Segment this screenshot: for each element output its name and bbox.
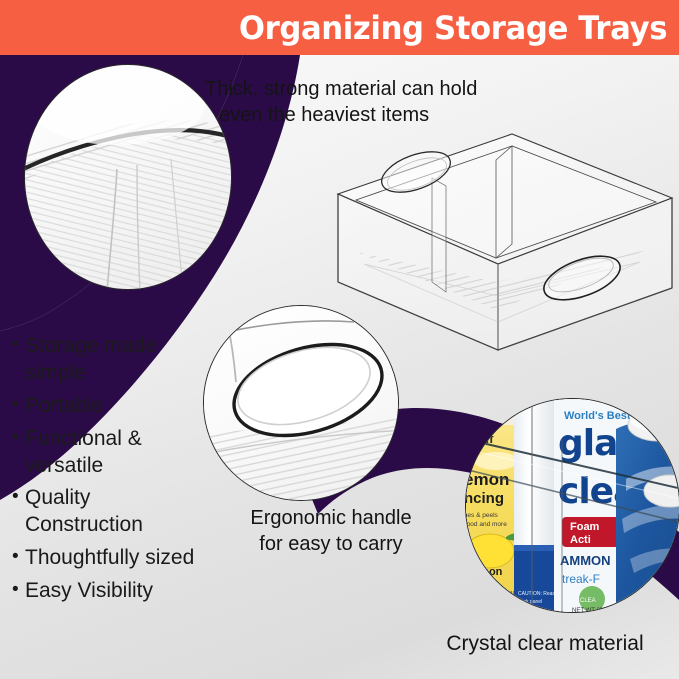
- svg-text:MATERIAL: MATERIAL: [648, 592, 673, 598]
- feature-label: Storage made simple: [25, 333, 202, 387]
- feature-item: • Functional & versatile: [12, 426, 202, 480]
- closeup-crystal-clear: atif emon ncing mes & peels wood and mor…: [465, 398, 679, 613]
- infographic-page: Organizing Storage Trays: [0, 0, 679, 679]
- crystal-clear-products: atif emon ncing mes & peels wood and mor…: [466, 399, 679, 613]
- svg-text:mes & peels: mes & peels: [466, 512, 499, 519]
- bullet-dot-icon: •: [12, 333, 25, 358]
- caption-handle-line2: for easy to carry: [216, 531, 446, 557]
- thick-material-illustration: [25, 65, 232, 290]
- caption-handle-line1: Ergonomic handle: [216, 505, 446, 531]
- feature-list: • Storage made simple • Portable • Funct…: [12, 333, 202, 611]
- feature-item: • Quality Construction: [12, 485, 202, 539]
- feature-label: Quality Construction: [25, 485, 202, 539]
- closeup-thick-material: [24, 64, 232, 290]
- svg-text:CAUTION: Read: CAUTION: Read: [518, 591, 555, 597]
- header-banner: Organizing Storage Trays: [0, 0, 679, 55]
- bullet-dot-icon: •: [12, 426, 25, 451]
- feature-label: Functional & versatile: [25, 426, 202, 480]
- svg-text:17 FL. OZ.: 17 FL. OZ.: [470, 603, 499, 609]
- svg-text:Acti: Acti: [570, 534, 591, 546]
- caption-thick-line2: even the heaviest items: [205, 102, 505, 128]
- feature-item: • Storage made simple: [12, 333, 202, 387]
- handle-illustration: [204, 306, 399, 501]
- caption-thick-line1: Thick, strong material can hold: [205, 76, 505, 102]
- svg-text:CLEA: CLEA: [580, 598, 596, 604]
- feature-item: • Thoughtfully sized: [12, 545, 202, 572]
- svg-text:ncing: ncing: [466, 490, 504, 507]
- svg-text:emon: emon: [466, 470, 509, 489]
- svg-text:lemon: lemon: [470, 566, 503, 578]
- feature-label: Portable: [25, 393, 202, 420]
- svg-text:wood and more: wood and more: [466, 521, 507, 528]
- caption-crystal-clear: Crystal clear material: [420, 630, 670, 657]
- bullet-dot-icon: •: [12, 485, 25, 510]
- feature-item: • Easy Visibility: [12, 578, 202, 605]
- svg-text:World's Best: World's Best: [564, 410, 631, 422]
- feature-item: • Portable: [12, 393, 202, 420]
- svg-text:AMMON: AMMON: [560, 553, 611, 568]
- feature-label: Thoughtfully sized: [25, 545, 202, 572]
- svg-text:back panel: back panel: [518, 599, 542, 605]
- feature-label: Easy Visibility: [25, 578, 202, 605]
- caption-ergonomic-handle: Ergonomic handle for easy to carry: [216, 505, 446, 557]
- bullet-dot-icon: •: [12, 393, 25, 418]
- page-title: Organizing Storage Trays: [239, 12, 667, 44]
- bullet-dot-icon: •: [12, 545, 25, 570]
- svg-text:treak-F: treak-F: [562, 572, 600, 586]
- svg-text:Foam: Foam: [570, 521, 600, 533]
- bullet-dot-icon: •: [12, 578, 25, 603]
- closeup-ergonomic-handle: [203, 305, 399, 501]
- caption-thick-material: Thick, strong material can hold even the…: [205, 76, 505, 128]
